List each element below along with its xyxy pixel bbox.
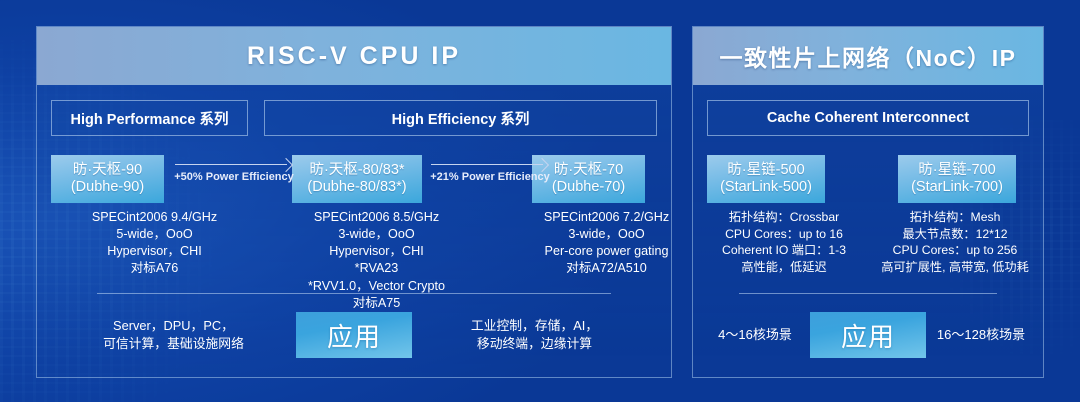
chip-dubhe-80-name-en: (Dubhe-80/83*) [307,179,406,196]
spec-line: SPECint2006 7.2/GHz [489,209,672,226]
noc-application-button-label: 应用 [841,317,895,354]
chip-tile-starlink-700[interactable]: 昉·星链-700 (StarLink-700) [898,155,1016,203]
cpu-application-button[interactable]: 应用 [296,312,412,358]
app-line: 移动终端，边缘计算 [412,335,657,353]
spec-line: CPU Cores：up to 16 [699,226,869,243]
spec-line: Coherent IO 端口：1-3 [699,242,869,259]
chip-starlink-500-name-en: (StarLink-500) [720,179,812,196]
chip-starlink-500-name-cn: 昉·星链-500 [727,162,804,179]
chip-starlink-700-name-cn: 昉·星链-700 [918,162,995,179]
cpu-application-button-label: 应用 [327,317,381,354]
spec-block-dubhe-70: SPECint2006 7.2/GHz 3-wide，OoO Per-core … [489,209,672,278]
panel-cpu-title: RISC-V CPU IP [247,42,461,71]
cpu-application-row: Server，DPU，PC， 可信计算，基础设施网络 应用 工业控制，存储，AI… [37,309,671,361]
noc-application-left-text: 4～16核场景 [700,326,810,344]
spec-line: Hypervisor，CHI [37,243,272,260]
spec-line: 高可扩展性, 高带宽, 低功耗 [869,259,1041,276]
spec-line: Hypervisor，CHI [259,243,494,260]
series-label-high-efficiency: High Efficiency 系列 [392,108,530,129]
noc-application-divider [739,293,997,294]
cpu-application-right-text: 工业控制，存储，AI， 移动终端，边缘计算 [412,317,657,353]
chip-dubhe-70-name-cn: 昉·天枢-70 [554,162,623,179]
chip-dubhe-70-name-en: (Dubhe-70) [552,179,625,196]
chip-starlink-700-name-en: (StarLink-700) [911,179,1003,196]
spec-block-starlink-700: 拓扑结构：Mesh 最大节点数：12*12 CPU Cores：up to 25… [869,209,1041,275]
app-line: 工业控制，存储，AI， [412,317,657,335]
spec-line: 拓扑结构：Mesh [869,209,1041,226]
arrow-right-icon [175,159,293,170]
cpu-application-divider [97,293,611,294]
spec-line: 3-wide，OoO [259,226,494,243]
chip-dubhe-90-name-en: (Dubhe-90) [71,179,144,196]
spec-line: 最大节点数：12*12 [869,226,1041,243]
spec-line: 高性能，低延迟 [699,259,869,276]
series-box-cache-coherent-interconnect[interactable]: Cache Coherent Interconnect [707,100,1029,136]
series-label-high-performance: High Performance 系列 [71,108,229,129]
app-line: 4～16核场景 [700,326,810,344]
arrow-label-power-efficiency-21: +21% Power Efficiency [430,171,550,183]
noc-application-button[interactable]: 应用 [810,312,926,358]
chip-tile-dubhe-80-83[interactable]: 昉·天枢-80/83* (Dubhe-80/83*) [292,155,422,203]
spec-block-dubhe-80-83: SPECint2006 8.5/GHz 3-wide，OoO Hyperviso… [259,209,494,312]
spec-line: 对标A72/A510 [489,260,672,277]
spec-line: Per-core power gating [489,243,672,260]
series-label-cache-coherent-interconnect: Cache Coherent Interconnect [767,110,969,126]
panel-risc-v-cpu-ip: RISC-V CPU IP High Performance 系列 High E… [36,26,672,378]
arrow-group-power-efficiency-21: +21% Power Efficiency [429,159,551,183]
spec-block-dubhe-90: SPECint2006 9.4/GHz 5-wide，OoO Hyperviso… [37,209,272,278]
panel-noc-body: Cache Coherent Interconnect 昉·星链-500 (St… [693,85,1043,378]
panel-cpu-body: High Performance 系列 High Efficiency 系列 昉… [37,85,671,378]
arrow-right-icon [431,159,549,170]
spec-line: SPECint2006 9.4/GHz [37,209,272,226]
spec-line: SPECint2006 8.5/GHz [259,209,494,226]
arrow-group-power-efficiency-50: +50% Power Efficiency [173,159,295,183]
app-line: Server，DPU，PC， [51,317,296,335]
cpu-series-row: High Performance 系列 High Efficiency 系列 [51,100,657,136]
noc-series-row: Cache Coherent Interconnect [707,100,1029,136]
spec-line: 5-wide，OoO [37,226,272,243]
spec-line: 对标A76 [37,260,272,277]
chip-tile-dubhe-90[interactable]: 昉·天枢-90 (Dubhe-90) [51,155,164,203]
noc-application-row: 4～16核场景 应用 16～128核场景 [693,309,1043,361]
chip-dubhe-80-name-cn: 昉·天枢-80/83* [309,162,404,179]
series-box-high-performance[interactable]: High Performance 系列 [51,100,248,136]
app-line: 可信计算，基础设施网络 [51,335,296,353]
spec-line: *RVA23 [259,260,494,277]
series-box-high-efficiency[interactable]: High Efficiency 系列 [264,100,657,136]
arrow-label-power-efficiency-50: +50% Power Efficiency [174,171,294,183]
spec-line: 拓扑结构：Crossbar [699,209,869,226]
panel-noc-title: 一致性片上网络（NoC）IP [720,39,1017,73]
panel-noc-header: 一致性片上网络（NoC）IP [693,27,1043,85]
spec-block-starlink-500: 拓扑结构：Crossbar CPU Cores：up to 16 Coheren… [699,209,869,275]
app-line: 16～128核场景 [926,326,1036,344]
panel-noc-ip: 一致性片上网络（NoC）IP Cache Coherent Interconne… [692,26,1044,378]
cpu-application-left-text: Server，DPU，PC， 可信计算，基础设施网络 [51,317,296,353]
spec-line: 3-wide，OoO [489,226,672,243]
noc-application-right-text: 16～128核场景 [926,326,1036,344]
panel-cpu-header: RISC-V CPU IP [37,27,671,85]
chip-dubhe-90-name-cn: 昉·天枢-90 [73,162,142,179]
chip-tile-starlink-500[interactable]: 昉·星链-500 (StarLink-500) [707,155,825,203]
spec-line: CPU Cores：up to 256 [869,242,1041,259]
